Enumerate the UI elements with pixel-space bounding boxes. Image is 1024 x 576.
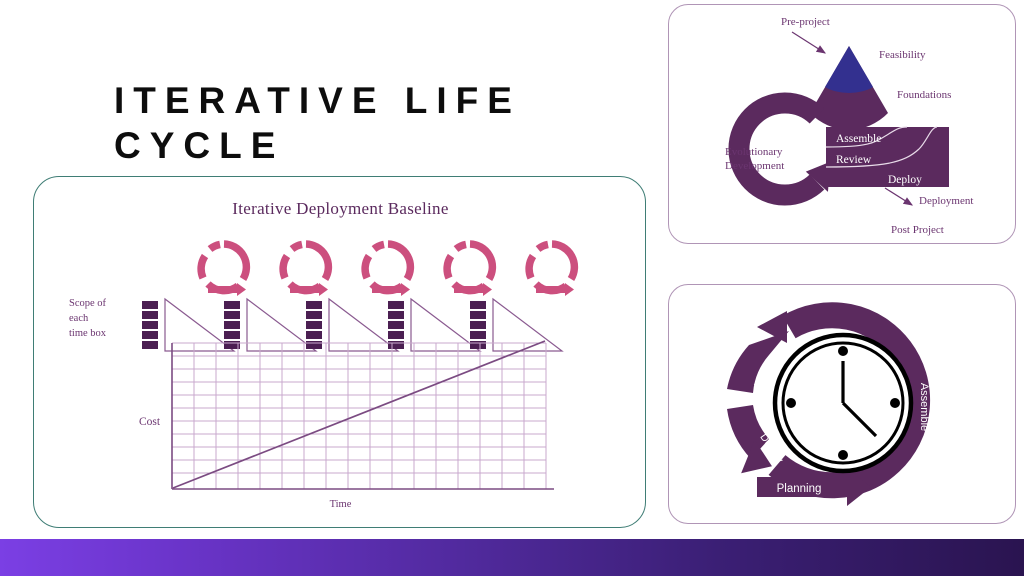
arrow-deployment: [885, 188, 912, 205]
label-pre-project: Pre-project: [781, 16, 830, 28]
assemble-review-deploy-box: Assemble Review Deploy: [826, 127, 949, 187]
slide-canvas: ITERATIVE LIFE CYCLE Iterative Deploymen…: [0, 0, 1024, 576]
iterative-baseline-panel: Iterative Deployment Baseline Scope of e…: [33, 176, 646, 528]
page-title: ITERATIVE LIFE CYCLE: [114, 78, 634, 168]
scope-block-stack: [306, 301, 322, 349]
label-assemble: Assemble: [918, 383, 930, 431]
scope-block-stack: [388, 301, 404, 349]
label-post-project: Post Project: [891, 224, 944, 236]
scope-block-stack: [470, 301, 486, 349]
clock-face-icon: [775, 335, 911, 471]
label-assemble: Assemble: [836, 133, 881, 145]
timebox-cycle-panel: Assemble Review Deploy Planning: [668, 284, 1016, 524]
arrow-pre-project: [792, 32, 825, 53]
cone-feasibility: [825, 46, 873, 93]
chart-series-cost: [173, 341, 545, 488]
circular-arrow-icon: [283, 244, 328, 296]
label-evolutionary-line1: Evolutionary: [725, 146, 783, 158]
cycle-icon-group: [201, 244, 574, 296]
label-foundations: Foundations: [897, 89, 951, 101]
cost-time-chart: [172, 341, 554, 489]
timebox-cycle-graphic: Assemble Review Deploy Planning: [669, 285, 1017, 525]
label-deploy: Deploy: [888, 174, 922, 186]
label-planning: Planning: [777, 483, 822, 495]
dsdm-process-panel: Pre-project Feasibility Foundations Evol…: [668, 4, 1016, 244]
label-deployment: Deployment: [919, 195, 973, 207]
label-review: Review: [836, 154, 872, 166]
bottom-accent-bar: [0, 539, 1024, 576]
circular-arrow-icon: [365, 244, 410, 296]
scope-block-stack: [224, 301, 240, 349]
circular-arrow-icon: [529, 244, 574, 296]
label-feasibility: Feasibility: [879, 49, 926, 61]
circular-arrow-icon: [447, 244, 492, 296]
baseline-diagram-graphic: [34, 177, 647, 529]
dsdm-process-graphic: Pre-project Feasibility Foundations Evol…: [669, 5, 1017, 245]
label-evolutionary-line2: Development: [725, 160, 784, 172]
circular-arrow-icon: [201, 244, 246, 296]
scope-block-stack: [142, 301, 158, 349]
